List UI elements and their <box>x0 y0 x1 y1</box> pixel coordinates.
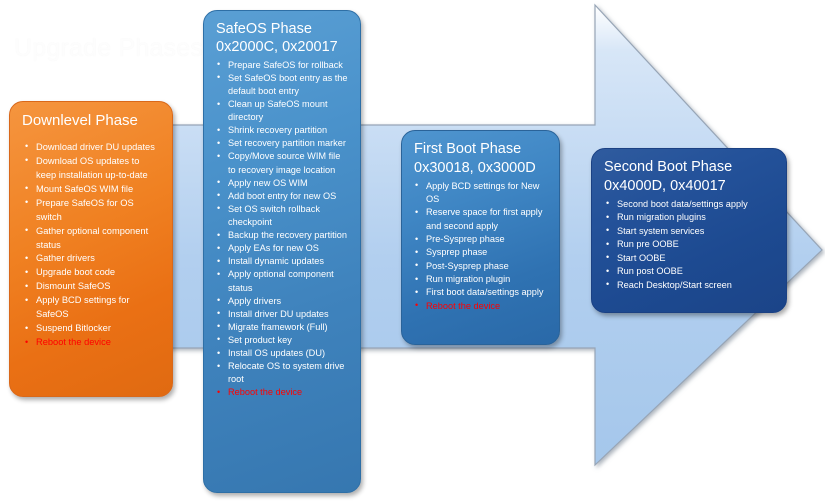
phase-box-firstboot[interactable]: First Boot Phase 0x30018, 0x3000D Apply … <box>401 130 560 345</box>
list-item: Dismount SafeOS <box>22 280 162 294</box>
list-item: Apply EAs for new OS <box>216 242 350 255</box>
list-item: Clean up SafeOS mount directory <box>216 98 350 124</box>
list-item: Prepare SafeOS for rollback <box>216 59 350 72</box>
phase-box-safeos[interactable]: SafeOS Phase 0x2000C, 0x20017 Prepare Sa… <box>203 10 361 493</box>
list-item: Apply optional component status <box>216 268 350 294</box>
list-item: Apply BCD settings for New OS <box>414 180 549 207</box>
list-item: Download OS updates to keep installation… <box>22 155 162 183</box>
list-item: Set recovery partition marker <box>216 137 350 150</box>
watermark-title: Upgrade Phases <box>14 34 203 63</box>
list-item: Migrate framework (Full) <box>216 321 350 334</box>
list-item: Backup the recovery partition <box>216 229 350 242</box>
list-item: Post-Sysprep phase <box>414 260 549 273</box>
list-item: Prepare SafeOS for OS switch <box>22 197 162 225</box>
list-item: Apply drivers <box>216 295 350 308</box>
list-item-reboot: Reboot the device <box>216 386 350 399</box>
phase-title-firstboot: First Boot Phase <box>414 140 549 159</box>
list-item: Run migration plugin <box>414 273 549 286</box>
list-item: Run post OOBE <box>604 265 776 279</box>
list-item: Apply new OS WIM <box>216 177 350 190</box>
list-item: Set OS switch rollback checkpoint <box>216 203 350 229</box>
phase-title-safeos: SafeOS Phase <box>216 20 350 39</box>
list-item: Gather optional component status <box>22 225 162 253</box>
list-item: Relocate OS to system drive root <box>216 360 350 386</box>
phase-steps-safeos: Prepare SafeOS for rollback Set SafeOS b… <box>216 59 350 400</box>
list-item: Apply BCD settings for SafeOS <box>22 294 162 322</box>
phase-title-secondboot: Second Boot Phase <box>604 158 776 177</box>
list-item: Run migration plugins <box>604 211 776 225</box>
phase-box-secondboot[interactable]: Second Boot Phase 0x4000D, 0x40017 Secon… <box>591 148 787 313</box>
phase-steps-secondboot: Second boot data/settings apply Run migr… <box>604 198 776 293</box>
list-item: Set SafeOS boot entry as the default boo… <box>216 72 350 98</box>
phase-codes-firstboot: 0x30018, 0x3000D <box>414 160 549 177</box>
phase-steps-downlevel: Download driver DU updates Download OS u… <box>22 141 162 350</box>
list-item: Second boot data/settings apply <box>604 198 776 212</box>
list-item: Upgrade boot code <box>22 266 162 280</box>
phase-box-downlevel[interactable]: Downlevel Phase Download driver DU updat… <box>9 101 173 397</box>
list-item: Download driver DU updates <box>22 141 162 155</box>
phase-steps-firstboot: Apply BCD settings for New OS Reserve sp… <box>414 180 549 313</box>
phase-codes-safeos: 0x2000C, 0x20017 <box>216 39 350 56</box>
list-item: Pre-Sysprep phase <box>414 233 549 246</box>
list-item: Reserve space for first apply and second… <box>414 206 549 233</box>
list-item: Install driver DU updates <box>216 308 350 321</box>
list-item: Sysprep phase <box>414 246 549 259</box>
diagram-canvas: Upgrade Phases Downlevel Phase Download … <box>0 0 825 501</box>
list-item: Reach Desktop/Start screen <box>604 279 776 293</box>
list-item: Shrink recovery partition <box>216 124 350 137</box>
list-item: Install OS updates (DU) <box>216 347 350 360</box>
list-item: Suspend Bitlocker <box>22 322 162 336</box>
list-item-reboot: Reboot the device <box>414 300 549 313</box>
list-item: Run pre OOBE <box>604 238 776 252</box>
list-item: Install dynamic updates <box>216 255 350 268</box>
list-item: Add boot entry for new OS <box>216 190 350 203</box>
list-item: Mount SafeOS WIM file <box>22 183 162 197</box>
list-item: Start OOBE <box>604 252 776 266</box>
list-item: Gather drivers <box>22 252 162 266</box>
list-item: Set product key <box>216 334 350 347</box>
list-item-reboot: Reboot the device <box>22 336 162 350</box>
list-item: Copy/Move source WIM file to recovery im… <box>216 150 350 176</box>
list-item: First boot data/settings apply <box>414 286 549 299</box>
list-item: Start system services <box>604 225 776 239</box>
phase-codes-secondboot: 0x4000D, 0x40017 <box>604 178 776 195</box>
phase-title-downlevel: Downlevel Phase <box>22 111 162 131</box>
